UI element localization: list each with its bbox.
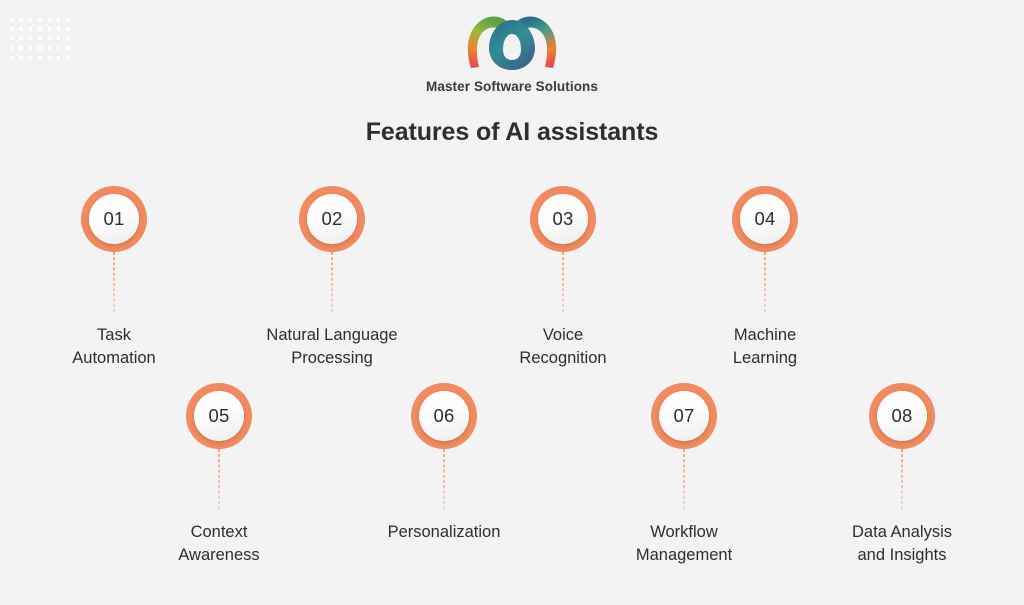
feature-connector-line	[218, 449, 220, 511]
feature-node-01[interactable]: 01Task Automation	[0, 186, 234, 369]
feature-connector-line	[764, 252, 766, 314]
feature-number-label: 05	[194, 391, 244, 441]
feature-label: Personalization	[324, 521, 564, 544]
feature-number-label: 06	[419, 391, 469, 441]
feature-label: Machine Learning	[645, 324, 885, 369]
feature-node-08[interactable]: 08Data Analysis and Insights	[782, 383, 1022, 566]
feature-node-05[interactable]: 05Context Awareness	[99, 383, 339, 566]
feature-label: Data Analysis and Insights	[782, 521, 1022, 566]
feature-number-label: 02	[307, 194, 357, 244]
feature-node-06[interactable]: 06Personalization	[324, 383, 564, 544]
infographic-canvas: Master Software Solutions Features of AI…	[0, 0, 1024, 605]
feature-label: Natural Language Processing	[212, 324, 452, 369]
feature-badge-wrap: 01	[81, 186, 147, 252]
feature-badge-wrap: 07	[651, 383, 717, 449]
feature-number-badge[interactable]: 03	[530, 186, 596, 252]
feature-number-label: 03	[538, 194, 588, 244]
brand-lockup: Master Software Solutions	[0, 8, 1024, 94]
feature-connector-line	[683, 449, 685, 511]
feature-badge-wrap: 03	[530, 186, 596, 252]
feature-connector-line	[901, 449, 903, 511]
feature-node-07[interactable]: 07Workflow Management	[564, 383, 804, 566]
brand-name: Master Software Solutions	[0, 79, 1024, 94]
feature-number-badge[interactable]: 02	[299, 186, 365, 252]
feature-number-label: 01	[89, 194, 139, 244]
feature-badge-wrap: 05	[186, 383, 252, 449]
feature-number-badge[interactable]: 01	[81, 186, 147, 252]
feature-badge-wrap: 06	[411, 383, 477, 449]
feature-label: Workflow Management	[564, 521, 804, 566]
feature-number-label: 04	[740, 194, 790, 244]
feature-node-02[interactable]: 02Natural Language Processing	[212, 186, 452, 369]
feature-number-badge[interactable]: 05	[186, 383, 252, 449]
feature-connector-line	[562, 252, 564, 314]
feature-badge-wrap: 02	[299, 186, 365, 252]
feature-number-badge[interactable]: 06	[411, 383, 477, 449]
feature-connector-line	[443, 449, 445, 511]
master-software-solutions-logo-icon	[460, 8, 564, 72]
feature-label: Context Awareness	[99, 521, 339, 566]
feature-number-badge[interactable]: 08	[869, 383, 935, 449]
page-title: Features of AI assistants	[0, 118, 1024, 147]
feature-badge-wrap: 08	[869, 383, 935, 449]
feature-connector-line	[113, 252, 115, 314]
feature-number-label: 08	[877, 391, 927, 441]
feature-label: Task Automation	[0, 324, 234, 369]
feature-number-badge[interactable]: 07	[651, 383, 717, 449]
feature-badge-wrap: 04	[732, 186, 798, 252]
feature-connector-line	[331, 252, 333, 314]
feature-number-badge[interactable]: 04	[732, 186, 798, 252]
feature-node-04[interactable]: 04Machine Learning	[645, 186, 885, 369]
feature-number-label: 07	[659, 391, 709, 441]
